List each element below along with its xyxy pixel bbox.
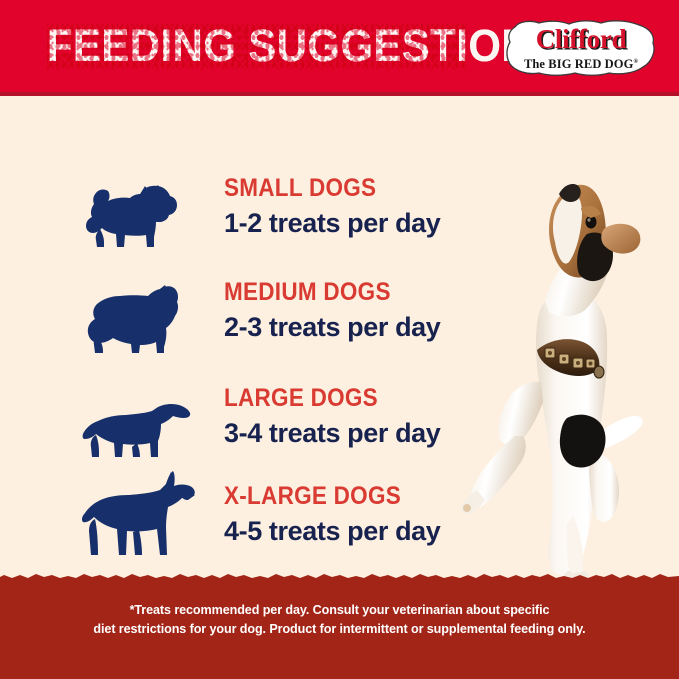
clifford-logo: Clifford The BIG RED DOG® bbox=[505, 19, 657, 77]
row-heading: X-LARGE DOGS bbox=[224, 484, 445, 509]
logo-tagline-text: The BIG RED DOG bbox=[524, 57, 634, 71]
dog-head bbox=[545, 184, 640, 316]
feeding-suggestions-poster: FEEDING SUGGESTIONS Clifford The BIG RED… bbox=[0, 0, 679, 679]
header-banner: FEEDING SUGGESTIONS Clifford The BIG RED… bbox=[0, 0, 679, 92]
page-title: FEEDING SUGGESTIONS bbox=[47, 23, 560, 69]
logo-tagline: The BIG RED DOG® bbox=[524, 56, 638, 71]
disclaimer-line-2: diet restrictions for your dog. Product … bbox=[0, 620, 679, 639]
row-amount: 2-3 treats per day bbox=[224, 312, 470, 342]
feeding-row: X-LARGE DOGS 4-5 treats per day bbox=[0, 462, 470, 568]
footer-banner: *Treats recommended per day. Consult you… bbox=[0, 578, 679, 679]
row-heading: LARGE DOGS bbox=[224, 386, 445, 411]
row-heading: MEDIUM DOGS bbox=[224, 280, 445, 305]
dog-body bbox=[460, 289, 642, 586]
torn-edge-divider bbox=[0, 569, 679, 581]
scottish-terrier-silhouette-icon bbox=[82, 159, 202, 255]
row-amount: 1-2 treats per day bbox=[224, 208, 470, 238]
feeding-row-text: MEDIUM DOGS 2-3 treats per day bbox=[224, 280, 470, 342]
feeding-row-text: SMALL DOGS 1-2 treats per day bbox=[224, 176, 470, 238]
feeding-row-text: LARGE DOGS 3-4 treats per day bbox=[224, 386, 470, 448]
row-amount: 3-4 treats per day bbox=[224, 418, 470, 448]
row-amount: 4-5 treats per day bbox=[224, 516, 470, 546]
row-heading: SMALL DOGS bbox=[224, 176, 445, 201]
jack-russell-terrier-photo bbox=[455, 150, 679, 590]
header-title-wrap: FEEDING SUGGESTIONS bbox=[0, 0, 480, 92]
disclaimer-line-1: *Treats recommended per day. Consult you… bbox=[0, 601, 679, 620]
logo-text-block: Clifford The BIG RED DOG® bbox=[505, 19, 657, 77]
great-dane-silhouette-icon bbox=[82, 467, 202, 563]
feeding-row: MEDIUM DOGS 2-3 treats per day bbox=[0, 258, 470, 364]
logo-wordmark: Clifford bbox=[536, 26, 627, 53]
disclaimer-text: *Treats recommended per day. Consult you… bbox=[0, 601, 679, 639]
collie-silhouette-icon bbox=[82, 263, 202, 359]
registered-trademark-icon: ® bbox=[633, 59, 638, 65]
feeding-row: SMALL DOGS 1-2 treats per day bbox=[0, 154, 470, 260]
labrador-silhouette-icon bbox=[82, 369, 202, 465]
feeding-row-text: X-LARGE DOGS 4-5 treats per day bbox=[224, 484, 470, 546]
feeding-row: LARGE DOGS 3-4 treats per day bbox=[0, 364, 470, 470]
